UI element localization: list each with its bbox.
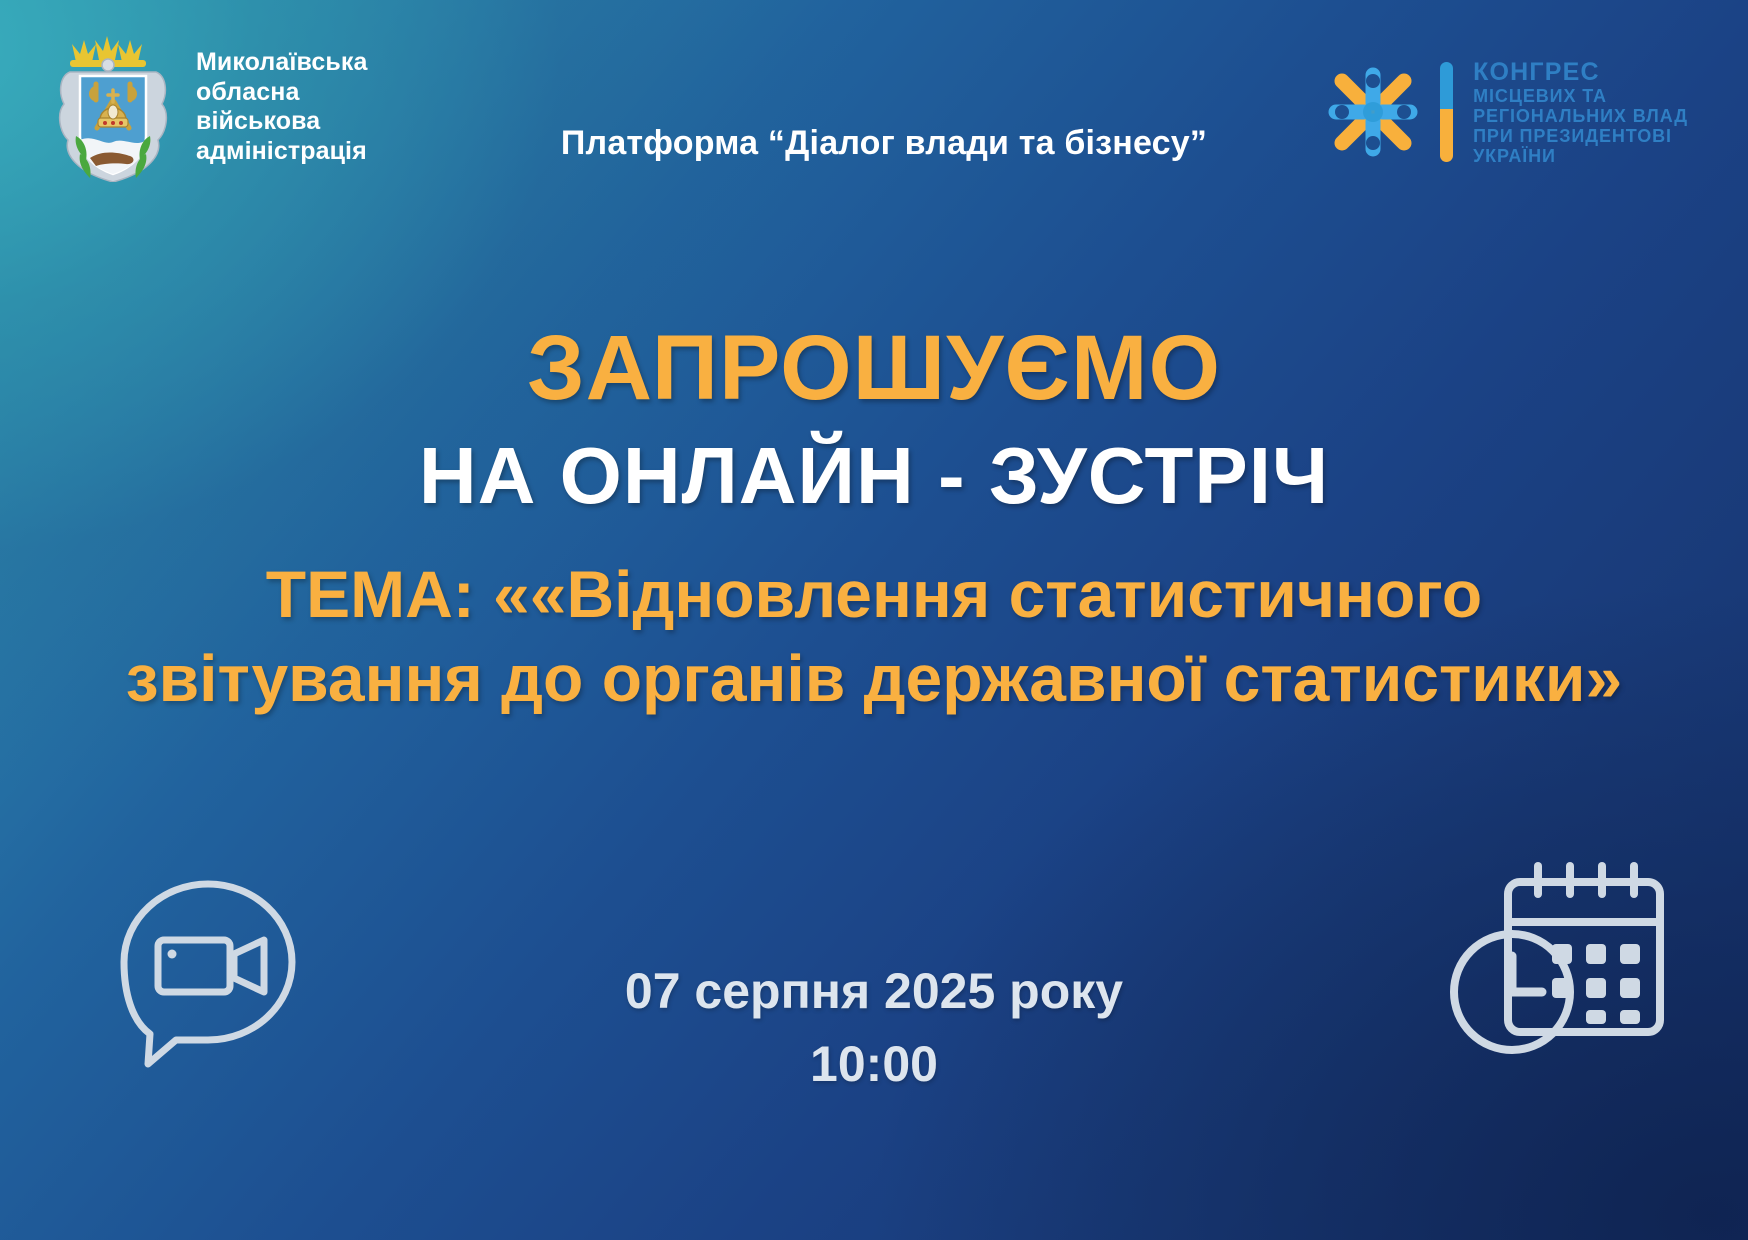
kongres-divider-bar <box>1440 62 1453 162</box>
kongres-line-2: МІСЦЕВИХ ТА <box>1473 86 1688 106</box>
kongres-label: КОНГРЕС МІСЦЕВИХ ТА РЕГІОНАЛЬНИХ ВЛАД ПР… <box>1473 58 1688 167</box>
video-chat-bubble-icon <box>108 868 308 1068</box>
headline-primary: ЗАПРОШУЄМО <box>0 322 1748 414</box>
poster-header: Миколаївська обласна військова адміністр… <box>0 0 1748 210</box>
kongres-line-4: ПРИ ПРЕЗИДЕНТОВІ <box>1473 126 1688 146</box>
kongres-logo: КОНГРЕС МІСЦЕВИХ ТА РЕГІОНАЛЬНИХ ВЛАД ПР… <box>1320 58 1688 167</box>
calendar-clock-icon <box>1446 852 1676 1072</box>
headline-secondary: НА ОНЛАЙН - ЗУСТРІЧ <box>0 436 1748 516</box>
meeting-date: 07 серпня 2025 року <box>374 955 1374 1028</box>
meeting-datetime: 07 серпня 2025 року 10:00 <box>374 955 1374 1100</box>
meeting-time: 10:00 <box>374 1028 1374 1101</box>
meeting-theme: ТЕМА: ««Відновлення статистичного звітув… <box>109 552 1639 721</box>
headline-block: ЗАПРОШУЄМО НА ОНЛАЙН - ЗУСТРІЧ <box>0 322 1748 516</box>
kongres-cross-mark-icon <box>1320 59 1426 165</box>
kongres-line-3: РЕГІОНАЛЬНИХ ВЛАД <box>1473 106 1688 126</box>
poster-canvas: Миколаївська обласна військова адміністр… <box>0 0 1748 1240</box>
kongres-line-5: УКРАЇНИ <box>1473 146 1688 166</box>
kongres-line-1: КОНГРЕС <box>1473 58 1688 86</box>
